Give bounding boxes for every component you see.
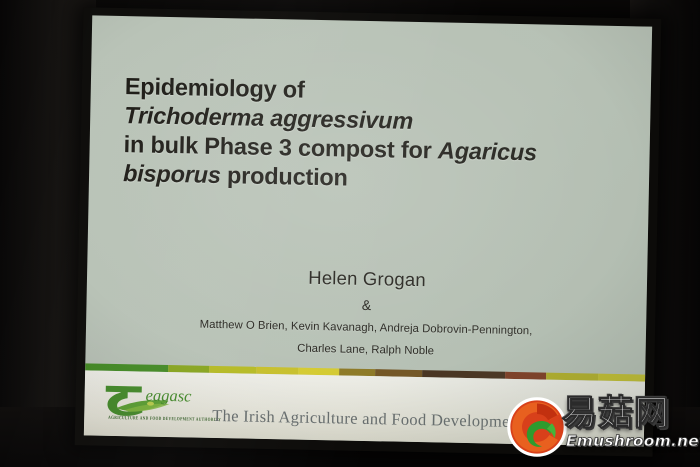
teagasc-logo-icon: eagasc [102,383,221,419]
title-text-epidemiology: Epidemiology of [125,73,305,103]
title-text-production: production [220,162,348,191]
title-text-compost-phrase: in bulk Phase 3 compost for [123,131,438,163]
presentation-slide: Epidemiology of Trichoderma aggressivum … [84,15,652,446]
site-watermark: 易菇网 Emushroom.net [506,392,700,458]
watermark-chinese-text: 易菇网 [562,394,670,434]
title-text-species-bisporus: bisporus [123,160,221,188]
author-block: Helen Grogan & Matthew O Brien, Kevin Ka… [115,261,617,364]
emushroom-logo-icon [506,396,568,458]
watermark-domain-text: Emushroom.net [566,432,700,450]
teagasc-logo-tagline: AGRICULTURE AND FOOD DEVELOPMENT AUTHORI… [108,415,220,423]
photo-scene: Epidemiology of Trichoderma aggressivum … [0,0,700,467]
slide-title: Epidemiology of Trichoderma aggressivum … [123,72,625,198]
teagasc-logo: eagasc AGRICULTURE AND FOOD DEVELOPMENT … [102,381,223,429]
teagasc-wordmark-text: eagasc [145,386,192,406]
footer-tagline-text: The Irish Agriculture and Food Developme… [212,406,523,432]
title-text-genus-agaricus: Agaricus [438,137,537,165]
title-text-species-trichoderma: Trichoderma aggressivum [124,102,413,134]
